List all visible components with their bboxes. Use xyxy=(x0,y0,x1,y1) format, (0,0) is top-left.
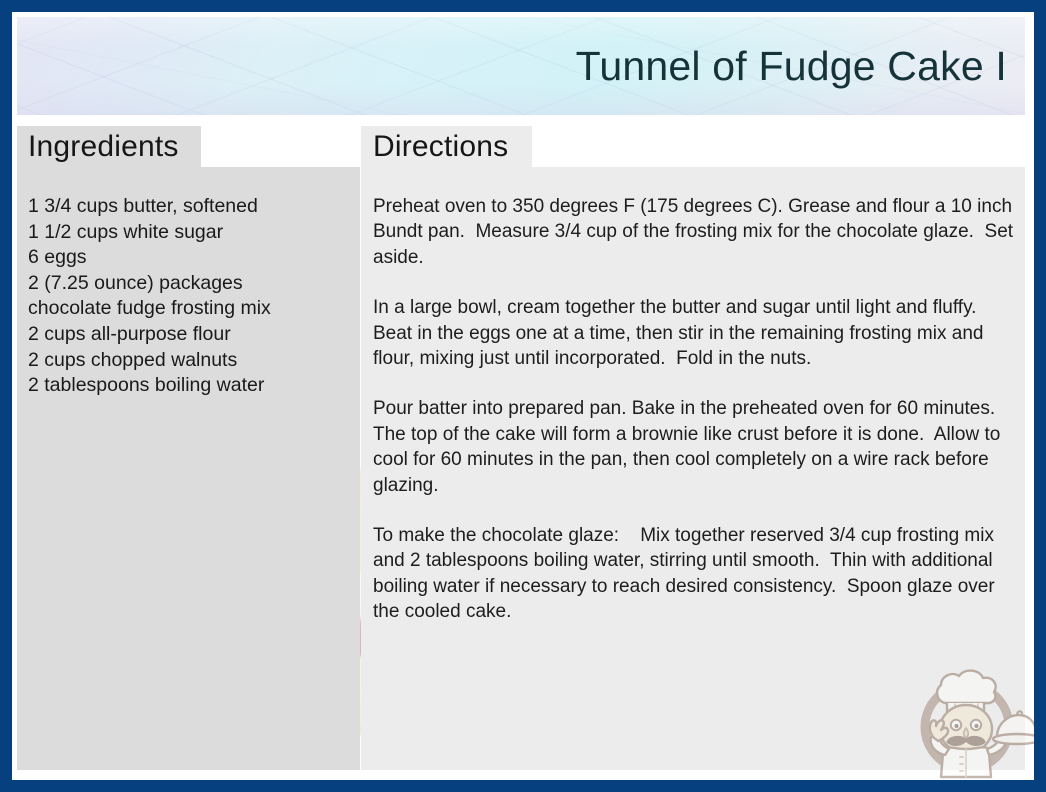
ingredient-item: 6 eggs xyxy=(28,245,348,271)
page-title: Tunnel of Fudge Cake I xyxy=(576,43,1007,90)
ingredient-item: 1 1/2 cups white sugar xyxy=(28,220,348,246)
directions-heading: Directions xyxy=(373,130,508,164)
ingredient-item: chocolate fudge frosting mix xyxy=(28,296,348,322)
ingredient-item: 2 (7.25 ounce) packages xyxy=(28,271,348,297)
ingredient-item: 2 cups all-purpose flour xyxy=(28,322,348,348)
direction-step: To make the chocolate glaze: Mix togethe… xyxy=(373,523,1018,625)
ingredients-heading: Ingredients xyxy=(28,130,179,164)
title-banner: Tunnel of Fudge Cake I xyxy=(17,17,1025,115)
ingredients-list: 1 3/4 cups butter, softened1 1/2 cups wh… xyxy=(28,194,348,399)
ingredient-item: 2 tablespoons boiling water xyxy=(28,373,348,399)
recipe-card: Tunnel of Fudge Cake I xyxy=(0,0,1046,792)
card-inner: Tunnel of Fudge Cake I xyxy=(12,12,1034,780)
direction-step: In a large bowl, cream together the butt… xyxy=(373,295,1018,371)
ingredient-item: 2 cups chopped walnuts xyxy=(28,348,348,374)
directions-body: Preheat oven to 350 degrees F (175 degre… xyxy=(373,194,1018,625)
direction-step: Pour batter into prepared pan. Bake in t… xyxy=(373,396,1018,498)
direction-step: Preheat oven to 350 degrees F (175 degre… xyxy=(373,194,1018,270)
ingredient-item: 1 3/4 cups butter, softened xyxy=(28,194,348,220)
